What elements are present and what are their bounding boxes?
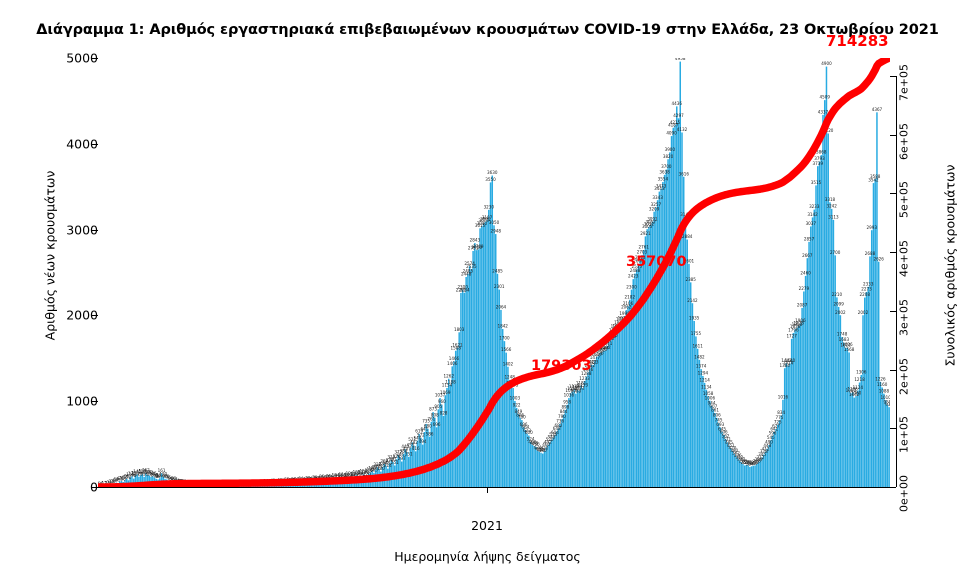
bar-value-label: 2208: [860, 292, 871, 297]
chart-canvas: 6491271521312840524563715882957811012598…: [98, 58, 890, 487]
bar: [758, 462, 760, 487]
bar-value-label: 960: [438, 399, 446, 404]
bar: [615, 329, 617, 487]
bar-value-label: 2884: [682, 234, 693, 239]
bar-value-label: 2301: [494, 284, 505, 289]
bar-value-label: 2333: [863, 281, 874, 286]
bar: [789, 363, 791, 487]
bar: [429, 437, 431, 487]
bar-value-label: 3868: [816, 150, 827, 155]
bar: [542, 454, 544, 487]
bar: [793, 333, 795, 487]
bar-value-label: 3793: [814, 156, 825, 161]
bar: [460, 293, 462, 487]
bar-value-label: 1700: [499, 336, 510, 341]
bar-value-label: 1568: [844, 347, 855, 352]
annotation-midpoint-2: 357070: [626, 254, 687, 270]
bar: [443, 416, 445, 487]
bar: [871, 230, 873, 487]
bar-value-label: 2002: [858, 310, 869, 315]
bar-value-label: 4215: [670, 120, 681, 125]
bar: [669, 152, 671, 487]
bar: [613, 333, 615, 487]
bar: [798, 326, 800, 487]
bar: [532, 445, 534, 487]
bar-value-label: 1233: [579, 376, 590, 381]
bar-value-label: 780: [518, 415, 526, 420]
bar-value-label: 4297: [673, 113, 684, 118]
bar: [427, 429, 429, 487]
bar-value-label: 586: [426, 431, 434, 436]
bar-value-label: 3515: [811, 180, 822, 185]
bar-value-label: 3037: [806, 221, 817, 226]
bar: [547, 445, 549, 487]
bar-value-label: 736: [556, 418, 564, 423]
bar: [552, 438, 554, 487]
y-axis-right: 7e+05 6e+05 5e+05 4e+05 3e+05 2e+05 1e+0…: [890, 58, 975, 487]
bar-value-label: 2264: [459, 287, 470, 292]
bar: [599, 353, 601, 487]
bar-value-label: 898: [561, 405, 569, 410]
bar-value-label: 834: [777, 410, 785, 415]
bar-value-label: 1069: [440, 390, 451, 395]
bar: [740, 462, 742, 487]
bar-value-label: 2279: [799, 286, 810, 291]
bar-value-label: 1466: [449, 356, 460, 361]
bar-value-label: 490: [765, 440, 773, 445]
y-tick-label: 5000: [42, 51, 98, 66]
bar: [821, 155, 823, 487]
y-tick-label-right: 6e+05: [898, 123, 911, 160]
y-tick-label-right: 3e+05: [898, 299, 911, 336]
y-tick-mark-right: [890, 252, 896, 253]
bar-value-label: 930: [885, 402, 890, 407]
bar: [887, 405, 889, 487]
bar-value-label: 4958: [675, 58, 686, 61]
bar-value-label: 1402: [503, 361, 514, 366]
bar: [608, 341, 610, 487]
bar: [643, 250, 645, 487]
bar-value-label: 2667: [802, 253, 813, 258]
bar-value-label: 1755: [691, 331, 702, 336]
bar: [566, 405, 568, 487]
bar-value-label: 1214: [699, 377, 710, 382]
bar-value-label: 1621: [452, 343, 463, 348]
bar: [876, 112, 878, 487]
bar: [761, 457, 763, 487]
bar-value-label: 4090: [666, 131, 677, 136]
y-tick-label-right: 2e+05: [898, 358, 911, 395]
bar: [455, 351, 457, 487]
bar: [413, 446, 415, 487]
bar-value-label: 2535: [466, 264, 477, 269]
bar-value-label: 3554: [658, 177, 669, 182]
bar: [796, 328, 798, 487]
bar: [629, 300, 631, 487]
bar-value-label: 1374: [696, 364, 707, 369]
bar: [751, 466, 753, 487]
bar-value-label: 3113: [828, 215, 839, 220]
bar: [756, 464, 758, 487]
bar-value-label: 3233: [809, 204, 820, 209]
bar-value-label: 4436: [672, 101, 683, 106]
y-axis-right-label: Συνολικός αριθμός κρουσμάτων: [943, 96, 958, 436]
bar: [664, 175, 666, 487]
bar: [827, 134, 829, 488]
bar: [445, 395, 447, 487]
bar: [488, 210, 490, 487]
bar-value-label: 3142: [807, 212, 818, 217]
bar: [469, 266, 471, 487]
y-tick-label-right: 5e+05: [898, 181, 911, 218]
bar-value-label: 1306: [856, 370, 867, 375]
bar-value-label: 905: [434, 404, 442, 409]
bar-value-label: 1842: [497, 324, 508, 329]
bar: [836, 297, 838, 487]
bar: [592, 365, 594, 487]
bar: [577, 390, 579, 487]
bar: [483, 223, 485, 487]
bar-value-label: 828: [440, 411, 448, 416]
bar: [448, 379, 450, 487]
y-axis-left: 5000 4000 3000 2000 1000 0 Αριθμός νέων …: [28, 58, 98, 487]
bar-value-label: 2142: [687, 298, 698, 303]
bar: [787, 366, 789, 487]
bar-value-label: 2300: [626, 284, 637, 289]
bar: [535, 447, 537, 487]
bar: [878, 262, 880, 487]
bar: [794, 329, 796, 487]
bar: [801, 308, 803, 487]
bar: [834, 255, 836, 487]
bar: [537, 451, 539, 487]
bar: [850, 393, 852, 487]
y-tick-mark-right: [890, 135, 896, 136]
bar-value-label: 682: [554, 423, 562, 428]
bar: [594, 360, 596, 487]
bar-value-label: 4509: [820, 95, 831, 100]
bar: [580, 386, 582, 487]
bar-value-label: 2948: [491, 229, 502, 234]
bar: [606, 346, 608, 487]
bar: [841, 337, 843, 487]
bar: [707, 396, 709, 487]
bar: [620, 322, 622, 487]
y-tick-label: 0: [42, 480, 98, 495]
bar: [476, 250, 478, 487]
bar-value-label: 2385: [685, 277, 696, 282]
bar: [586, 376, 588, 487]
bar-value-label: 1160: [877, 382, 888, 387]
bar-value-label: 1803: [454, 327, 465, 332]
bar: [749, 467, 751, 487]
bar-value-label: 958: [563, 399, 571, 404]
bar-value-label: 2273: [861, 287, 872, 292]
bar-value-label: 790: [558, 414, 566, 419]
bar: [857, 391, 859, 487]
bar-value-label: 3900: [665, 147, 676, 152]
bar: [786, 363, 788, 487]
bar-value-label: 416: [412, 446, 420, 451]
bar: [511, 386, 513, 487]
x-tick-label: 2021: [437, 518, 537, 533]
bar: [579, 391, 581, 487]
bar: [709, 401, 711, 487]
bar: [859, 383, 861, 488]
bar: [814, 210, 816, 487]
bar: [556, 431, 558, 487]
bar: [563, 415, 565, 487]
bar: [561, 419, 563, 487]
x-axis-label: Ημερομηνία λήψης δείγματος: [0, 549, 975, 564]
bar-value-label: 808: [431, 412, 439, 417]
bar: [436, 427, 438, 487]
bar-value-label: 3616: [679, 171, 690, 176]
bar-value-label: 3588: [870, 174, 881, 179]
bar-value-label: 1611: [692, 343, 703, 348]
bar: [622, 321, 624, 487]
bar-value-label: 1188: [445, 380, 456, 385]
bar: [612, 339, 614, 487]
bar: [888, 407, 890, 487]
bar: [673, 128, 675, 487]
bar: [812, 217, 814, 487]
bar: [589, 368, 591, 487]
bar-value-label: 2843: [470, 238, 481, 243]
bar: [446, 388, 448, 487]
bar: [493, 225, 495, 487]
bar: [441, 405, 443, 487]
y-tick-mark-right: [890, 311, 896, 312]
bar-value-label: 2002: [835, 310, 846, 315]
bar-value-label: 1153: [578, 383, 589, 388]
bar: [624, 316, 626, 487]
bar: [659, 192, 661, 487]
bar: [486, 220, 488, 487]
bar-value-label: 3050: [489, 220, 500, 225]
bar: [572, 392, 574, 488]
bar: [674, 125, 676, 487]
bar: [777, 425, 779, 487]
bar-value-label: 3739: [813, 161, 824, 166]
bar: [760, 460, 762, 487]
bar-value-label: 2857: [804, 236, 815, 241]
bar-value-label: 2182: [625, 294, 636, 299]
bar: [551, 440, 553, 487]
bar: [605, 350, 607, 487]
bar: [575, 394, 577, 487]
y-axis-left-label: Αριθμός νέων κρουσμάτων: [43, 66, 58, 446]
bar: [680, 62, 682, 487]
bar: [505, 353, 507, 487]
bar: [753, 466, 755, 487]
bar-value-label: 2106: [623, 301, 634, 306]
bar: [800, 323, 802, 487]
bar-value-label: 3318: [825, 197, 836, 202]
bar: [610, 339, 612, 487]
bar: [587, 372, 589, 487]
bar-value-label: 1566: [501, 347, 512, 352]
bar-value-label: 680: [424, 423, 432, 428]
y-tick-label-right: 0e+00: [898, 475, 911, 512]
bar: [603, 351, 605, 487]
bar: [638, 264, 640, 487]
bar: [810, 226, 812, 487]
bar: [808, 242, 810, 487]
bar-value-label: 2626: [873, 256, 884, 261]
bar: [434, 418, 436, 487]
y-tick-mark-right: [890, 370, 896, 371]
bar-value-label: 2700: [830, 250, 841, 255]
bar: [666, 170, 668, 487]
bar-value-label: 1406: [447, 361, 458, 366]
bar: [843, 343, 845, 487]
bar: [807, 258, 809, 487]
bar: [502, 329, 504, 487]
bar-value-label: 1016: [778, 394, 789, 399]
bar-value-label: 2210: [832, 292, 843, 297]
bar-value-label: 351: [405, 451, 413, 456]
bar-value-label: 775: [776, 415, 784, 420]
bar: [833, 220, 835, 487]
bar-value-label: 2688: [865, 251, 876, 256]
bar-value-label: 844: [560, 409, 568, 414]
bar: [530, 442, 532, 487]
bar: [450, 385, 452, 487]
bar: [780, 415, 782, 487]
bar-value-label: 2761: [638, 245, 649, 250]
bar-value-label: 297: [398, 456, 406, 461]
bar: [829, 202, 831, 487]
bar: [570, 393, 572, 487]
bar: [474, 243, 476, 487]
bar: [681, 132, 683, 487]
bar: [462, 290, 464, 487]
bar: [481, 226, 483, 487]
bar: [690, 282, 692, 487]
bar-value-label: 2921: [640, 231, 651, 236]
bar: [847, 347, 849, 487]
annotation-total-cases: 714283: [826, 32, 889, 50]
bar: [617, 329, 619, 487]
x-axis-line: [98, 487, 890, 488]
bar: [855, 396, 857, 487]
bar-value-label: 2460: [800, 271, 811, 276]
bar: [626, 310, 628, 487]
bar: [667, 159, 669, 487]
bar: [653, 212, 655, 487]
y-tick-mark-right: [890, 193, 896, 194]
bar-value-label: 3473: [656, 184, 667, 189]
bar: [885, 400, 887, 487]
bar-value-label: 1440: [785, 358, 796, 363]
bar: [784, 368, 786, 487]
bar: [697, 349, 699, 487]
bar-value-label: 2485: [463, 268, 474, 273]
bar: [565, 410, 567, 487]
bar-value-label: 2769: [473, 244, 484, 249]
bar: [523, 427, 525, 487]
bar: [862, 315, 864, 487]
bar: [742, 464, 744, 487]
bar-value-label: 4132: [677, 127, 688, 132]
bar-value-label: 1134: [701, 384, 712, 389]
bar: [472, 251, 474, 487]
y-tick-mark-right: [890, 487, 896, 488]
bar-value-label: 2064: [496, 305, 507, 310]
bar: [662, 182, 664, 487]
bar-value-label: 2087: [797, 303, 808, 308]
plot-area: 6491271521312840524563715882957811012598…: [98, 58, 890, 487]
bar: [775, 429, 777, 487]
bar: [549, 442, 551, 487]
bar-value-label: 1036: [564, 393, 575, 398]
bar-value-label: 3257: [651, 202, 662, 207]
bar: [815, 185, 817, 487]
bar: [619, 325, 621, 487]
bar-value-label: 3820: [663, 154, 674, 159]
bar: [883, 394, 885, 487]
bar: [655, 208, 657, 487]
bar: [478, 249, 480, 487]
bar-value-label: 1935: [689, 316, 700, 321]
bar: [479, 228, 481, 487]
bar-value-label: 4337: [818, 109, 829, 114]
bar-value-label: 3091: [647, 216, 658, 221]
bar: [627, 306, 629, 487]
bar: [864, 298, 866, 487]
bar-value-label: 4367: [872, 107, 883, 112]
x-tick-mark: [487, 487, 488, 493]
y-tick-label-right: 1e+05: [898, 416, 911, 453]
bar: [568, 398, 570, 487]
bar-value-label: 1906: [795, 318, 806, 323]
bar: [866, 292, 868, 487]
bar-value-label: 545: [767, 435, 775, 440]
bar-value-label: 725: [774, 419, 782, 424]
bar-value-label: 494: [419, 439, 427, 444]
bar: [465, 277, 467, 487]
y-tick-mark-right: [890, 76, 896, 77]
bar-value-label: 3343: [652, 195, 663, 200]
bar-value-label: 3230: [484, 204, 495, 209]
bar-value-label: 1218: [854, 377, 865, 382]
bar-value-label: 1006: [705, 395, 716, 400]
bar: [545, 448, 547, 487]
bar: [767, 449, 769, 487]
y-tick-label-right: 4e+05: [898, 240, 911, 277]
bar-value-label: 3638: [659, 169, 670, 174]
bar-value-label: 922: [513, 402, 521, 407]
bar: [559, 424, 561, 487]
annotation-midpoint-1: 179303: [531, 358, 592, 374]
bar-value-label: 600: [525, 430, 533, 435]
bar: [601, 352, 603, 487]
bar: [819, 162, 821, 487]
bar: [768, 445, 770, 487]
bar-value-label: 1003: [510, 396, 521, 401]
bar-value-label: 1088: [879, 388, 890, 393]
bar: [657, 200, 659, 487]
bar: [805, 276, 807, 487]
bar-value-label: 1226: [875, 376, 886, 381]
bar-value-label: 2423: [628, 274, 639, 279]
bar-value-label: 1727: [786, 333, 797, 338]
bar: [540, 453, 542, 487]
bar-value-label: 1060: [851, 391, 862, 396]
bar: [852, 392, 854, 487]
bar-value-label: 2993: [867, 225, 878, 230]
